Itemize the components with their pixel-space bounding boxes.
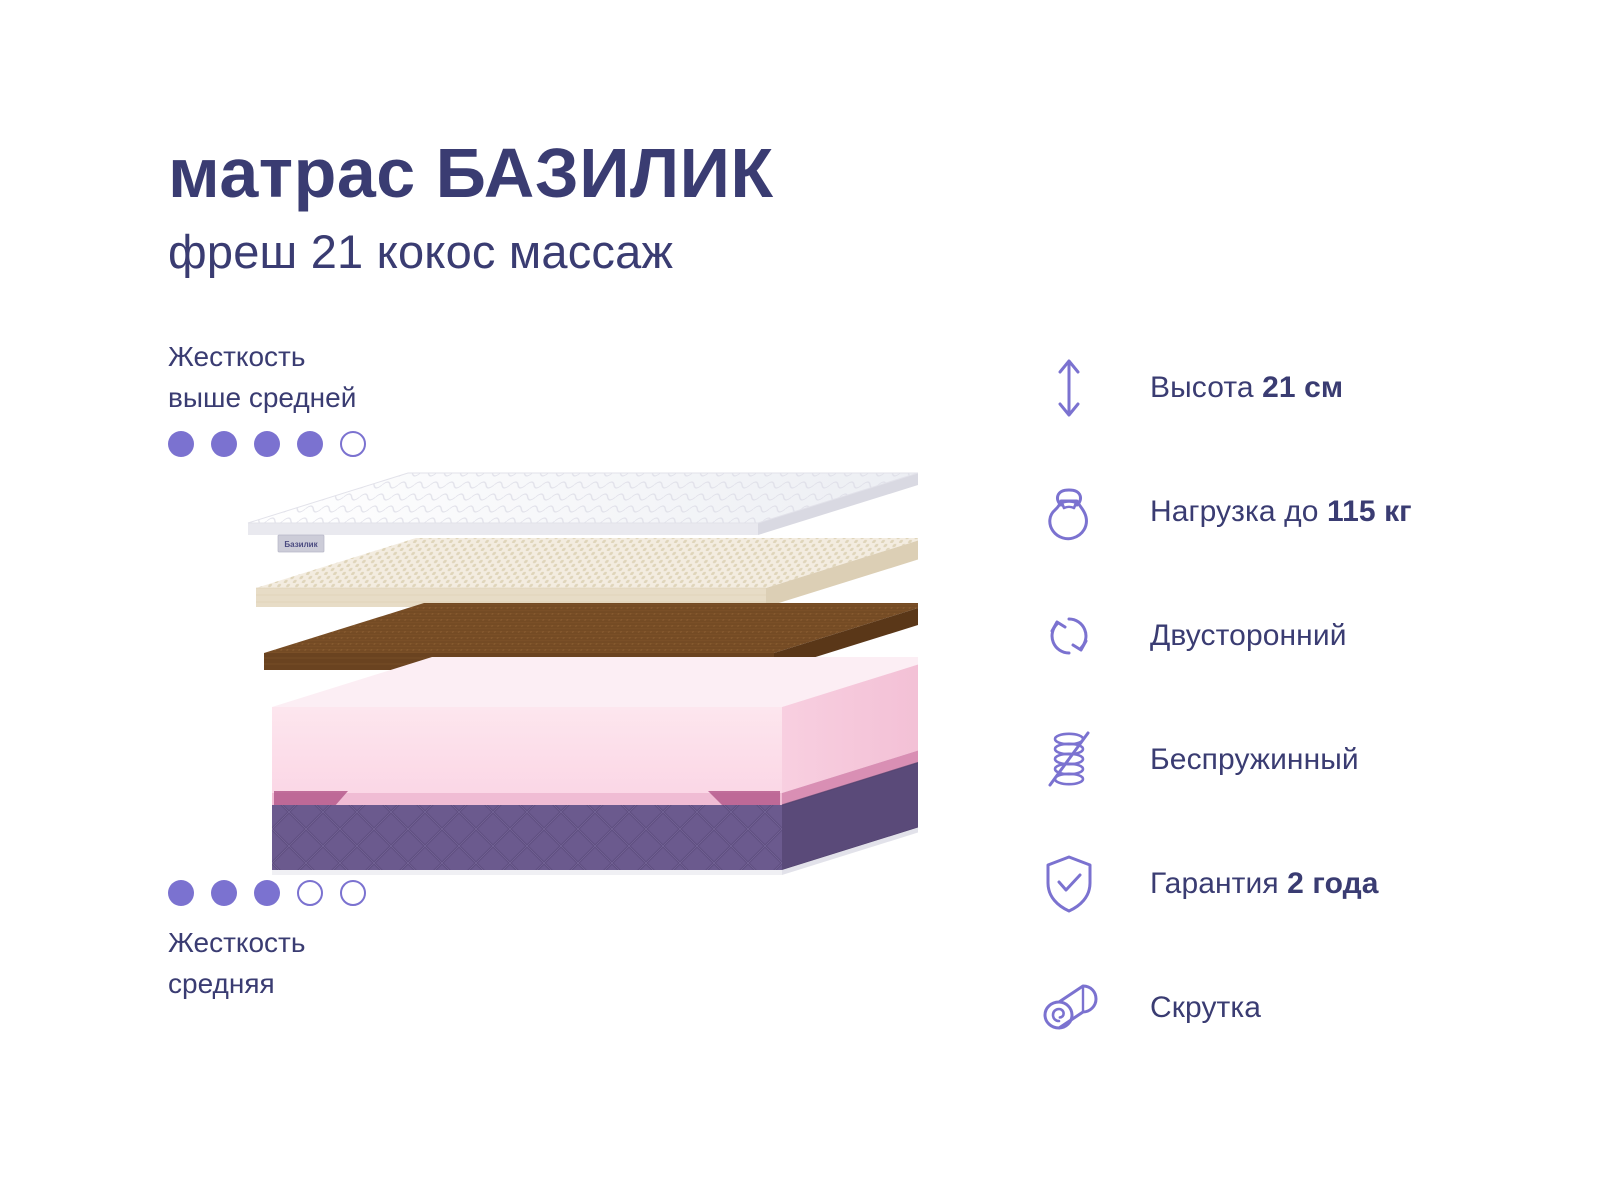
firmness-dot bbox=[211, 431, 237, 457]
firmness-dot bbox=[297, 431, 323, 457]
feature-row-load: Нагрузка до 115 кг bbox=[1036, 450, 1556, 574]
firmness-dot bbox=[254, 880, 280, 906]
mattress-layers-illustration: Базилик bbox=[238, 455, 918, 875]
firmness-dot bbox=[297, 880, 323, 906]
feature-label-two-sided: Двусторонний bbox=[1150, 619, 1347, 653]
rotate-icon bbox=[1036, 599, 1102, 673]
firmness-top-label: Жесткость выше средней bbox=[168, 337, 588, 418]
product-infographic: матрас БАЗИЛИК фреш 21 кокос массаж Жест… bbox=[0, 0, 1600, 1200]
brand-tag: Базилик bbox=[278, 535, 324, 552]
firmness-dot bbox=[168, 431, 194, 457]
feature-label-springless: Беспружинный bbox=[1150, 743, 1359, 777]
firmness-dot bbox=[168, 880, 194, 906]
rolled-mattress-icon bbox=[1036, 971, 1102, 1045]
firmness-top-side: Жесткость выше средней bbox=[168, 337, 588, 457]
mattress-layer-pink-foam-core bbox=[272, 657, 918, 793]
mattress-layer-massage-foam bbox=[256, 538, 918, 607]
feature-row-springless: Беспружинный bbox=[1036, 698, 1556, 822]
feature-row-height: Высота 21 см bbox=[1036, 326, 1556, 450]
height-arrow-icon bbox=[1036, 351, 1102, 425]
feature-label-load: Нагрузка до 115 кг bbox=[1150, 495, 1412, 529]
feature-row-warranty: Гарантия 2 года bbox=[1036, 822, 1556, 946]
firmness-dot bbox=[211, 880, 237, 906]
page-title: матрас БАЗИЛИК bbox=[168, 138, 1068, 209]
shield-check-icon bbox=[1036, 847, 1102, 921]
title-block: матрас БАЗИЛИК фреш 21 кокос массаж bbox=[168, 138, 1068, 279]
feature-row-two-sided: Двусторонний bbox=[1036, 574, 1556, 698]
feature-label-height: Высота 21 см bbox=[1150, 371, 1343, 405]
firmness-dot bbox=[340, 431, 366, 457]
firmness-bottom-dots bbox=[168, 880, 588, 906]
features-list: Высота 21 см Нагрузка до 115 кг bbox=[1036, 326, 1556, 1070]
kettlebell-icon bbox=[1036, 475, 1102, 549]
page-subtitle: фреш 21 кокос массаж bbox=[168, 225, 1068, 279]
no-spring-icon bbox=[1036, 723, 1102, 797]
firmness-dot bbox=[254, 431, 280, 457]
brand-tag-text: Базилик bbox=[284, 540, 318, 549]
feature-row-roll: Скрутка bbox=[1036, 946, 1556, 1070]
mattress-layer-quilted-top-cover bbox=[248, 473, 918, 535]
firmness-bottom-label: Жесткость средняя bbox=[168, 923, 588, 1004]
firmness-top-dots bbox=[168, 431, 588, 457]
feature-label-warranty: Гарантия 2 года bbox=[1150, 867, 1379, 901]
firmness-bottom-side: Жесткость средняя bbox=[168, 880, 588, 1004]
firmness-dot bbox=[340, 880, 366, 906]
feature-label-roll: Скрутка bbox=[1150, 991, 1261, 1025]
